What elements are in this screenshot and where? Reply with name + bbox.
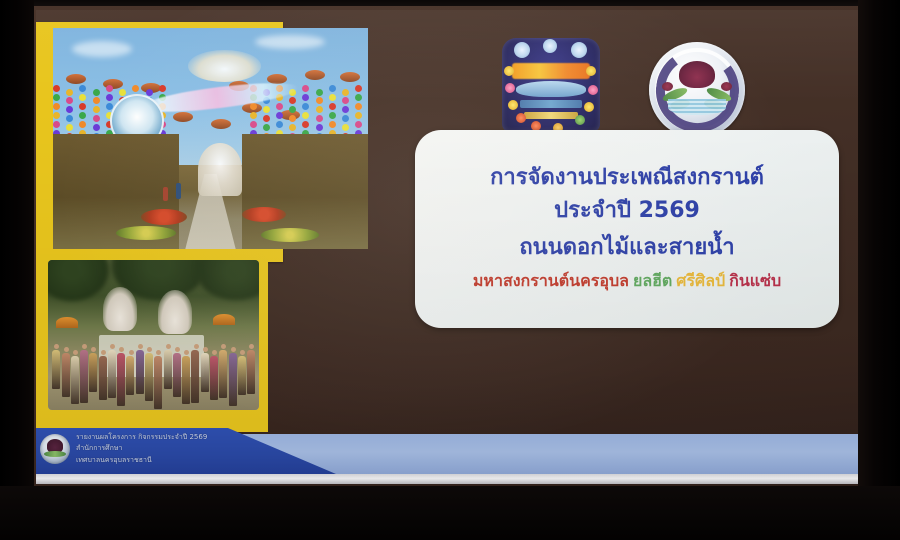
balloon <box>93 106 100 113</box>
municipality-seal-small-icon <box>40 434 70 464</box>
visitor <box>163 187 168 201</box>
banner-top-ornament <box>188 50 260 82</box>
person <box>219 350 227 398</box>
title-line-2: ประจำปี 2569 <box>429 193 825 229</box>
person <box>201 353 209 392</box>
logo-flower <box>586 66 596 76</box>
balloon <box>53 121 60 128</box>
logo-flower <box>584 102 594 112</box>
logo-subtitle-strip <box>524 112 579 119</box>
naga-sculpture <box>158 290 192 334</box>
title-slogan-line: มหาสงกรานต์นครอุบลยลฮีตศรีศิลป์กินแซ่บ <box>429 266 825 296</box>
person <box>145 353 153 401</box>
water-icon <box>668 99 726 115</box>
title-line-3: ถนนดอกไม้และสายน้ำ <box>429 230 825 266</box>
slogan-part: ศรีศิลป์ <box>674 271 727 290</box>
logo-badge <box>514 42 530 58</box>
footer-credit-block: รายงานผลโครงการ กิจกรรมประจำปี 2569 สำนั… <box>76 432 316 466</box>
person <box>154 356 162 409</box>
lotus-icon <box>679 61 715 88</box>
person <box>62 353 70 397</box>
flower-bed <box>141 209 187 225</box>
person <box>229 353 237 406</box>
wall-bottom-dark <box>0 486 900 540</box>
logo-flower <box>508 100 518 110</box>
person <box>71 356 79 404</box>
songkran-festival-emblem-logo <box>502 38 600 132</box>
person <box>126 356 134 395</box>
slogan-part: ยลฮีต <box>631 271 674 290</box>
balloon <box>119 89 126 96</box>
person <box>89 353 97 392</box>
seal-leaf <box>44 451 66 458</box>
flower-arch <box>198 143 242 196</box>
logo-flower <box>588 85 598 95</box>
person-head <box>64 347 69 352</box>
traditional-dress-group-photo <box>48 260 259 410</box>
presentation-slide: การจัดงานประเพณีสงกรานต์ ประจำปี 2569 ถน… <box>36 10 858 476</box>
person <box>173 353 181 397</box>
parasol <box>56 317 78 328</box>
balloon <box>342 89 349 96</box>
person <box>164 350 172 389</box>
person-head <box>138 344 143 349</box>
balloon <box>66 89 73 96</box>
title-line-1: การจัดงานประเพณีสงกรานต์ <box>429 162 825 194</box>
logo-flower <box>516 113 526 123</box>
slide-title-panel: การจัดงานประเพณีสงกรานต์ ประจำปี 2569 ถน… <box>415 130 839 328</box>
balloon <box>53 112 60 119</box>
footer-line-2: สำนักการศึกษา <box>76 443 316 454</box>
person-head <box>240 350 245 355</box>
balloon <box>93 124 100 131</box>
person-head <box>110 344 115 349</box>
balloon <box>93 115 100 122</box>
person <box>238 356 246 395</box>
balloon <box>316 124 323 131</box>
hanging-umbrella <box>340 72 360 82</box>
festival-banner <box>141 50 299 130</box>
balloon <box>316 115 323 122</box>
balloon <box>342 124 349 131</box>
naga-sculpture <box>103 287 137 331</box>
person-head <box>175 347 180 352</box>
logo-badge <box>571 42 587 58</box>
logo-strip <box>520 100 583 108</box>
logo-flower <box>505 83 515 93</box>
balloon <box>329 121 336 128</box>
person-head <box>129 350 134 355</box>
balloon <box>329 112 336 119</box>
screen-bottom-edge <box>36 474 858 484</box>
person-head <box>203 347 208 352</box>
logo-flower <box>575 115 585 125</box>
person <box>247 350 255 394</box>
person <box>136 350 144 394</box>
balloon <box>316 106 323 113</box>
hanging-umbrella <box>305 70 325 80</box>
parasol <box>213 314 235 325</box>
person-head <box>101 350 106 355</box>
person <box>52 350 60 389</box>
logo-title-band <box>512 63 590 79</box>
visitor <box>176 183 181 199</box>
person <box>182 356 190 404</box>
screenshot-root: การจัดงานประเพณีสงกรานต์ ประจำปี 2569 ถน… <box>0 0 900 540</box>
slogan-part: กินแซ่บ <box>727 271 783 290</box>
person <box>99 356 107 400</box>
logo-badge <box>543 39 557 53</box>
footer-line-1: รายงานผลโครงการ กิจกรรมประจำปี 2569 <box>76 432 316 443</box>
footer-line-3: เทศบาลนครอุบลราชธานี <box>76 455 316 466</box>
ubon-ratchathani-municipality-seal-logo <box>649 42 745 138</box>
umbrella-flower-street-photo <box>53 28 368 249</box>
person-head <box>194 344 199 349</box>
person <box>108 350 116 398</box>
side-bud <box>721 82 732 91</box>
cloud <box>255 35 325 49</box>
balloon <box>316 89 323 96</box>
banner-ribbon <box>141 77 300 117</box>
logo-water-wave <box>516 81 587 97</box>
person <box>80 350 88 403</box>
person-head <box>231 347 236 352</box>
slogan-part: มหาสงกรานต์นครอุบล <box>471 271 631 290</box>
wall-left-dark <box>0 0 34 540</box>
person-head <box>166 344 171 349</box>
person <box>210 356 218 400</box>
person <box>117 353 125 406</box>
person <box>191 350 199 403</box>
balloon <box>93 89 100 96</box>
person-head <box>73 350 78 355</box>
wall-right-dark <box>858 0 900 540</box>
balloon <box>329 103 336 110</box>
